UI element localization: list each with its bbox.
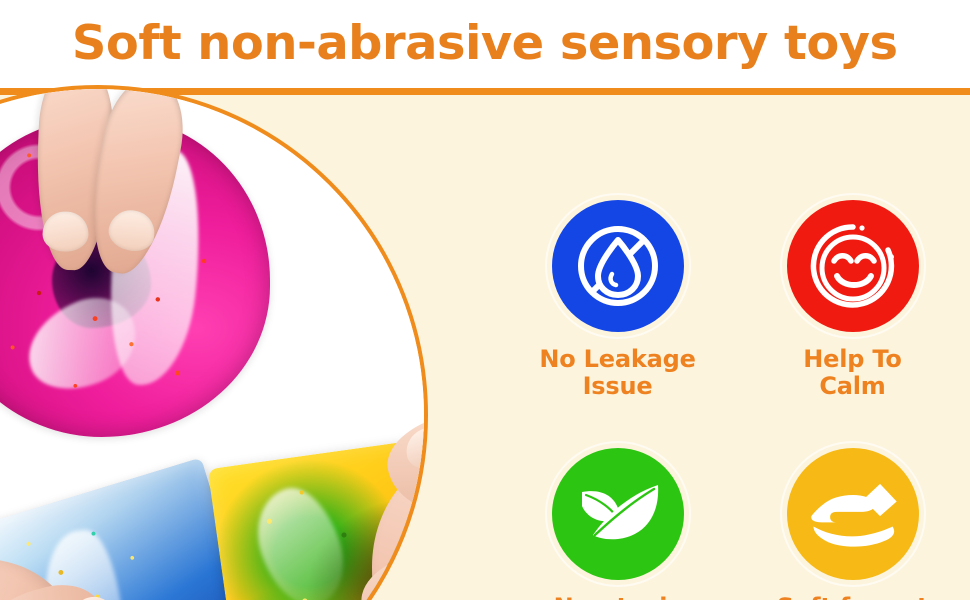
sensory-gel-pads-photo (0, 85, 428, 600)
infographic-banner: Soft non-abrasive sensory toys (0, 0, 970, 600)
hand-holding-blue-pad (0, 559, 142, 600)
fingernail (43, 212, 89, 252)
feature-label: Non-toxic Eco-friendly (538, 594, 698, 600)
feature-no-leakage: No Leakage Issue (500, 200, 735, 401)
hand-pressing-pink-pad (18, 85, 221, 306)
feature-grid: No Leakage Issue Help To Calm (500, 190, 970, 600)
hand-squeezing-yellow-pad (332, 419, 428, 600)
no-water-drop-badge (552, 200, 684, 332)
smiley-face-icon (803, 216, 903, 316)
leaves-badge (552, 448, 684, 580)
feature-non-toxic: Non-toxic Eco-friendly (500, 448, 735, 600)
feature-soft-cut-prevention: Soft for cut prevention (735, 448, 970, 600)
feature-label: Help To Calm (803, 346, 901, 401)
no-water-drop-icon (568, 216, 668, 316)
smiley-face-badge (787, 200, 919, 332)
feature-label: Soft for cut prevention (777, 594, 929, 600)
content-area: No Leakage Issue Help To Calm (0, 95, 970, 600)
feature-help-to-calm: Help To Calm (735, 200, 970, 401)
pad-white-swirl-b (14, 285, 149, 404)
feature-label: No Leakage Issue (539, 346, 695, 401)
header-bar: Soft non-abrasive sensory toys (0, 0, 970, 88)
leaves-icon (568, 464, 668, 564)
photo-canvas (0, 89, 424, 600)
hand-holding-soft-pad-icon (801, 462, 905, 566)
page-title: Soft non-abrasive sensory toys (72, 20, 898, 69)
hand-holding-soft-pad-badge (787, 448, 919, 580)
